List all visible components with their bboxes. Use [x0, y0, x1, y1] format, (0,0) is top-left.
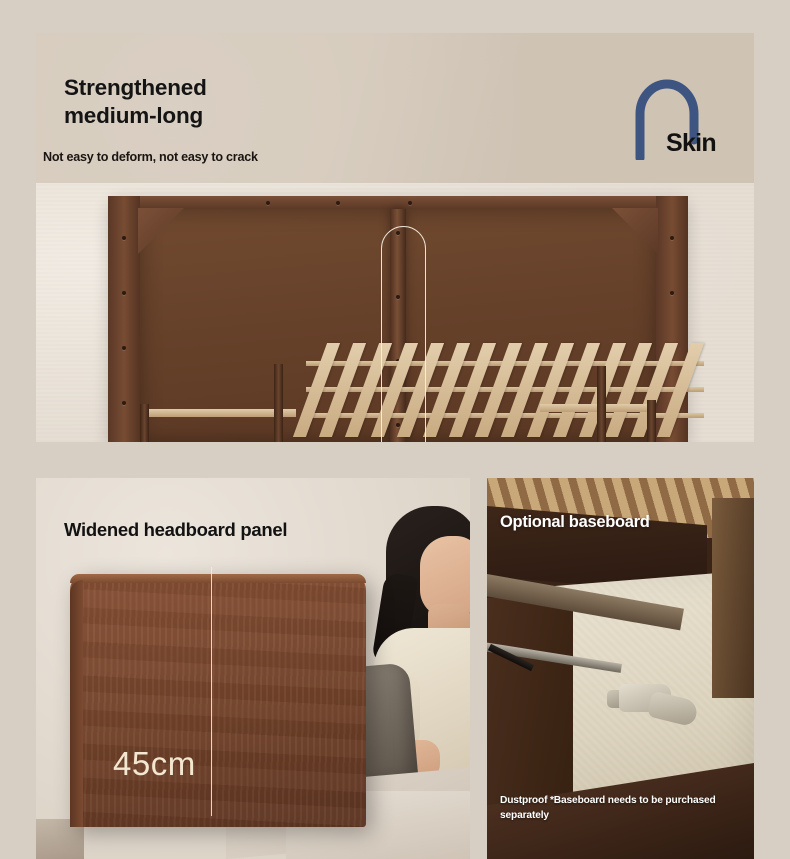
screw [396, 295, 400, 299]
headline-line-1: Strengthened [64, 74, 207, 102]
baseboard-disclaimer-caption: Dustproof *Baseboard needs to be purchas… [500, 794, 744, 823]
headline-line-2: medium-long [64, 102, 207, 130]
support-bracket [140, 404, 149, 442]
wood-grain-texture [70, 574, 366, 827]
product-photo-slat-support [36, 183, 754, 442]
measurement-label-45cm: 45cm [113, 745, 196, 783]
screw [122, 291, 126, 295]
screw [408, 201, 412, 205]
panel-strengthened-support: Strengthened medium-long Not easy to def… [36, 33, 754, 442]
screw [670, 291, 674, 295]
frame-rail-top [108, 196, 688, 209]
screw [336, 201, 340, 205]
bracket-part-arm [647, 691, 700, 728]
screw [122, 346, 126, 350]
panel-optional-baseboard: Optional baseboard Dustproof *Baseboard … [487, 478, 754, 859]
screw [670, 236, 674, 240]
support-bracket [274, 364, 283, 442]
slat-deck [306, 353, 704, 425]
measurement-guide-line [211, 567, 212, 816]
panel-title-optional-baseboard: Optional baseboard [500, 513, 650, 532]
brand-logo: Skin [632, 78, 724, 166]
panel-widened-headboard: Widened headboard panel [36, 478, 470, 859]
screw [396, 231, 400, 235]
screw [122, 401, 126, 405]
brand-wordmark: Skin [666, 129, 716, 158]
screw [266, 201, 270, 205]
side-support-rail-right [540, 404, 650, 412]
screw [122, 236, 126, 240]
support-bracket [647, 400, 656, 442]
panel-title-widened-headboard: Widened headboard panel [64, 519, 287, 541]
support-bracket [597, 366, 606, 442]
headboard-left-edge [70, 580, 83, 827]
bed-frame-headboard-back [108, 196, 688, 442]
headline-subtitle: Not easy to deform, not easy to crack [43, 150, 258, 164]
page-title: Strengthened medium-long [64, 74, 207, 130]
metal-lift-bracket [619, 678, 699, 732]
headboard-top-edge [70, 574, 366, 583]
frame-rail-left [108, 196, 140, 442]
widened-headboard [70, 574, 366, 827]
frame-rail-right [712, 498, 754, 698]
